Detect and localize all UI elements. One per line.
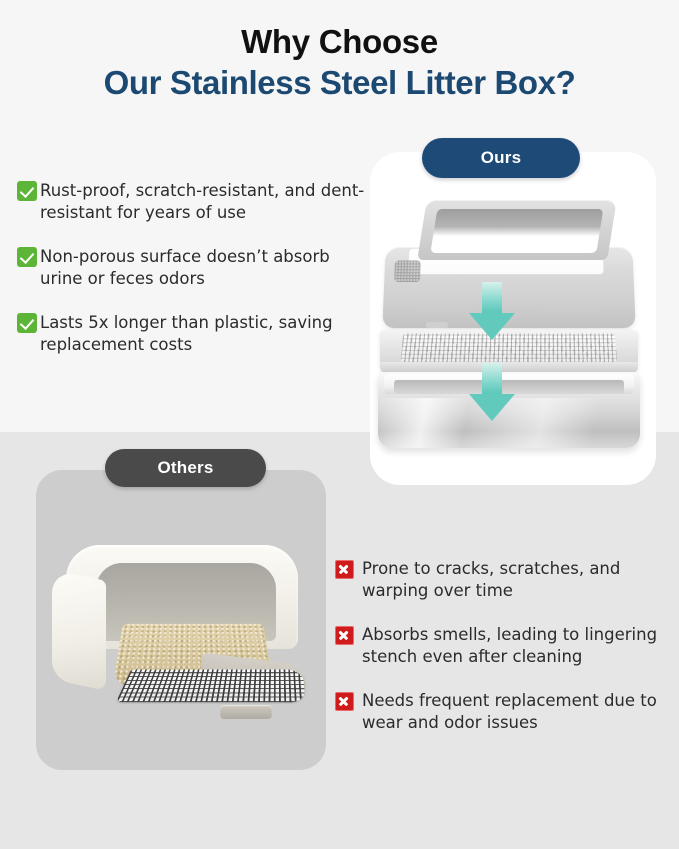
arrow-shaft (482, 363, 502, 396)
perforated-step-mat (116, 669, 305, 702)
down-arrow-icon-upper (469, 282, 515, 340)
steel-box-top-frame (417, 200, 617, 260)
list-item-label: Rust-proof, scratch-resistant, and dent-… (40, 180, 369, 224)
arrow-head (469, 394, 515, 421)
arrow-head (469, 313, 515, 340)
x-icon (335, 560, 354, 579)
title-line-2: Our Stainless Steel Litter Box? (0, 62, 679, 104)
list-item-label: Prone to cracks, scratches, and warping … (362, 558, 671, 602)
title-line-1: Why Choose (0, 22, 679, 62)
plastic-box-handle (220, 705, 272, 719)
list-item-label: Lasts 5x longer than plastic, saving rep… (40, 312, 369, 356)
list-item: Non-porous surface doesn’t absorb urine … (17, 246, 369, 290)
check-icon (17, 313, 37, 333)
plastic-box-side-wing (52, 569, 106, 690)
page-title: Why Choose Our Stainless Steel Litter Bo… (0, 22, 679, 104)
list-item-label: Absorbs smells, leading to lingering ste… (362, 624, 671, 668)
stainless-steel-litter-box-illustration (378, 196, 650, 451)
steel-box-top-frame-opening (430, 209, 603, 253)
list-item-label: Non-porous surface doesn’t absorb urine … (40, 246, 369, 290)
cons-list: Prone to cracks, scratches, and warping … (335, 558, 671, 734)
steel-box-latch-tab (426, 322, 448, 328)
x-icon (335, 626, 354, 645)
down-arrow-icon-lower (469, 363, 515, 421)
list-item-label: Needs frequent replacement due to wear a… (362, 690, 671, 734)
infographic-root: Why Choose Our Stainless Steel Litter Bo… (0, 0, 679, 849)
mesh-vent-icon (394, 260, 421, 282)
ours-badge: Ours (422, 138, 580, 178)
list-item: Needs frequent replacement due to wear a… (335, 690, 671, 734)
pros-list: Rust-proof, scratch-resistant, and dent-… (17, 180, 369, 356)
others-badge: Others (105, 449, 266, 487)
list-item: Absorbs smells, leading to lingering ste… (335, 624, 671, 668)
check-icon (17, 247, 37, 267)
list-item: Lasts 5x longer than plastic, saving rep… (17, 312, 369, 356)
plastic-litter-box-illustration (52, 545, 314, 745)
list-item: Rust-proof, scratch-resistant, and dent-… (17, 180, 369, 224)
list-item: Prone to cracks, scratches, and warping … (335, 558, 671, 602)
x-icon (335, 692, 354, 711)
arrow-shaft (482, 282, 502, 315)
check-icon (17, 181, 37, 201)
